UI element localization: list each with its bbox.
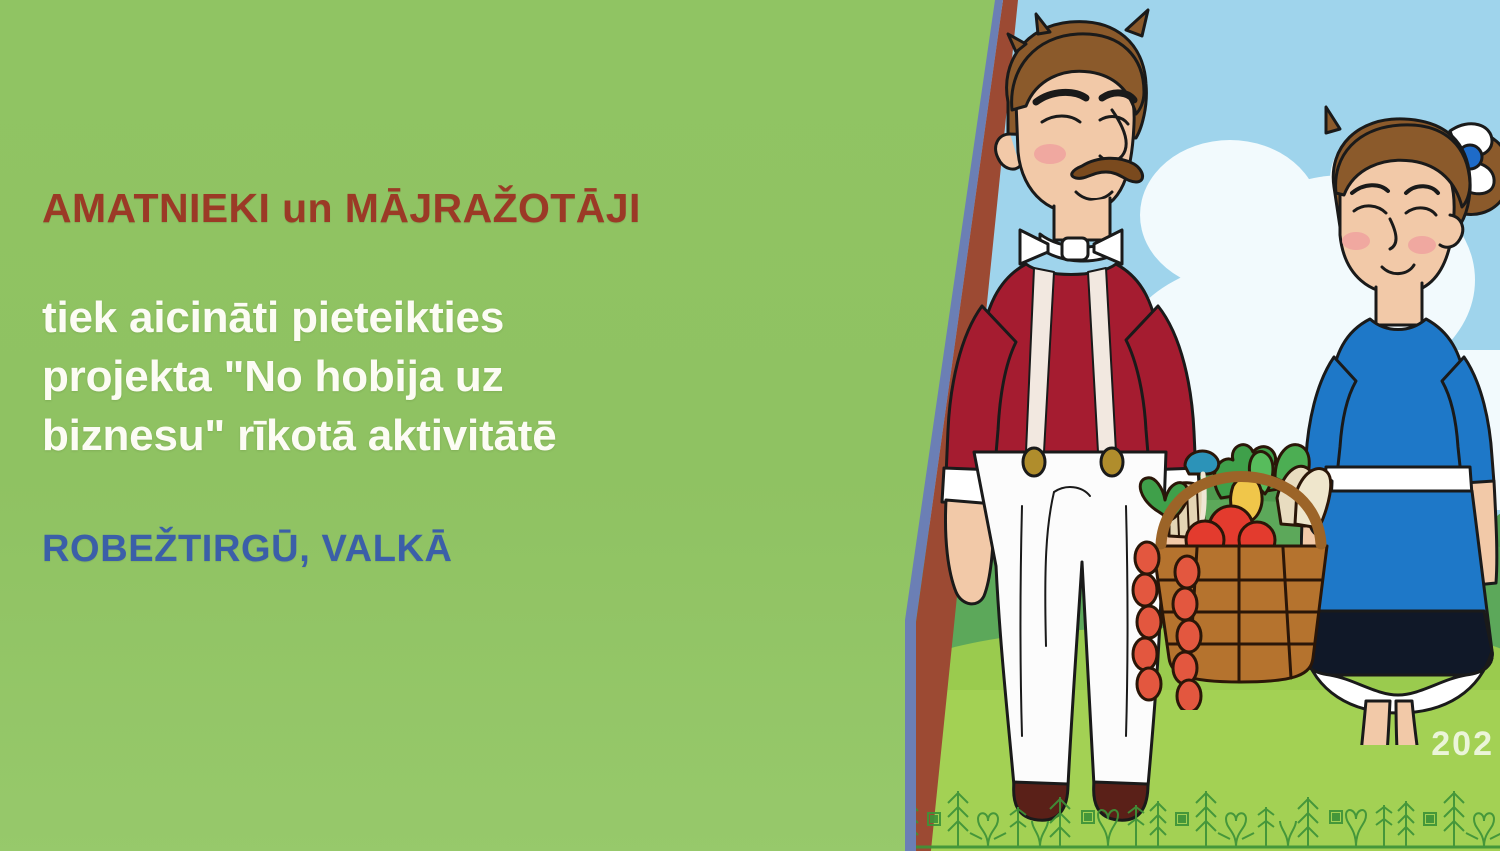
bottom-white-strip (0, 851, 1500, 860)
poster-root: AMATNIEKI un MĀJRAŽOTĀJI tiek aicināti p… (0, 0, 1500, 860)
body-line-1: tiek aicināti pieteikties (42, 289, 872, 348)
event-location: ROBEŽTIRGŪ, VALKĀ (42, 528, 872, 571)
body-line-2: projekta "No hobija uz (42, 348, 872, 407)
latvian-folk-ornament (900, 755, 1500, 851)
produce-basket (1125, 420, 1355, 710)
body-line-3: biznesu" rīkotā aktivitātē (42, 407, 872, 466)
poster-text-block: AMATNIEKI un MĀJRAŽOTĀJI tiek aicināti p… (42, 186, 872, 571)
page-title: AMATNIEKI un MĀJRAŽOTĀJI (42, 186, 872, 231)
poster-body-text: tiek aicināti pieteikties projekta "No h… (42, 289, 872, 466)
year-watermark: 202 (1431, 725, 1494, 764)
